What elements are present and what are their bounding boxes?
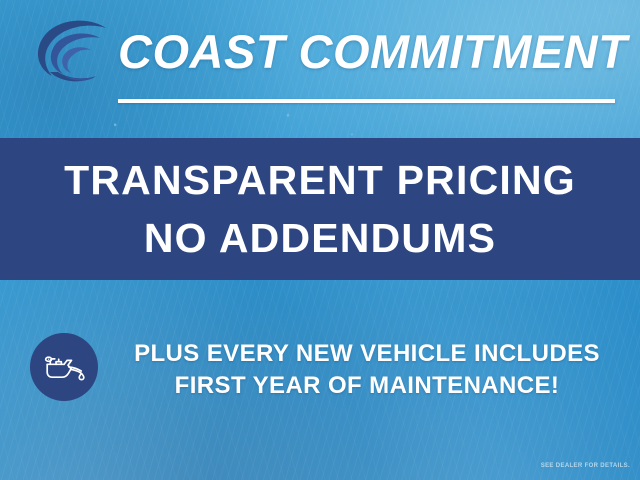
oil-can-icon: [41, 349, 87, 385]
page-title: COAST COMMITMENT: [118, 22, 624, 82]
promo-text-block: PLUS EVERY NEW VEHICLE INCLUDES FIRST YE…: [112, 325, 622, 415]
headline-line-transparent-pricing: TRANSPARENT PRICING: [64, 153, 576, 207]
coast-wave-swirl-logo-icon: [34, 18, 110, 88]
headline-band: TRANSPARENT PRICING NO ADDENDUMS: [0, 138, 640, 280]
headline-line-no-addendums: NO ADDENDUMS: [144, 211, 496, 265]
coast-commitment-banner: COAST COMMITMENT TRANSPARENT PRICING NO …: [0, 0, 640, 480]
oil-can-icon-badge: [30, 333, 98, 401]
banner-header: COAST COMMITMENT: [0, 0, 640, 138]
promo-section: PLUS EVERY NEW VEHICLE INCLUDES FIRST YE…: [0, 325, 640, 415]
promo-line-maintenance: FIRST YEAR OF MAINTENANCE!: [175, 370, 560, 402]
promo-line-includes: PLUS EVERY NEW VEHICLE INCLUDES: [134, 338, 600, 370]
header-divider: [118, 99, 615, 103]
disclaimer-text: SEE DEALER FOR DETAILS.: [541, 462, 630, 471]
